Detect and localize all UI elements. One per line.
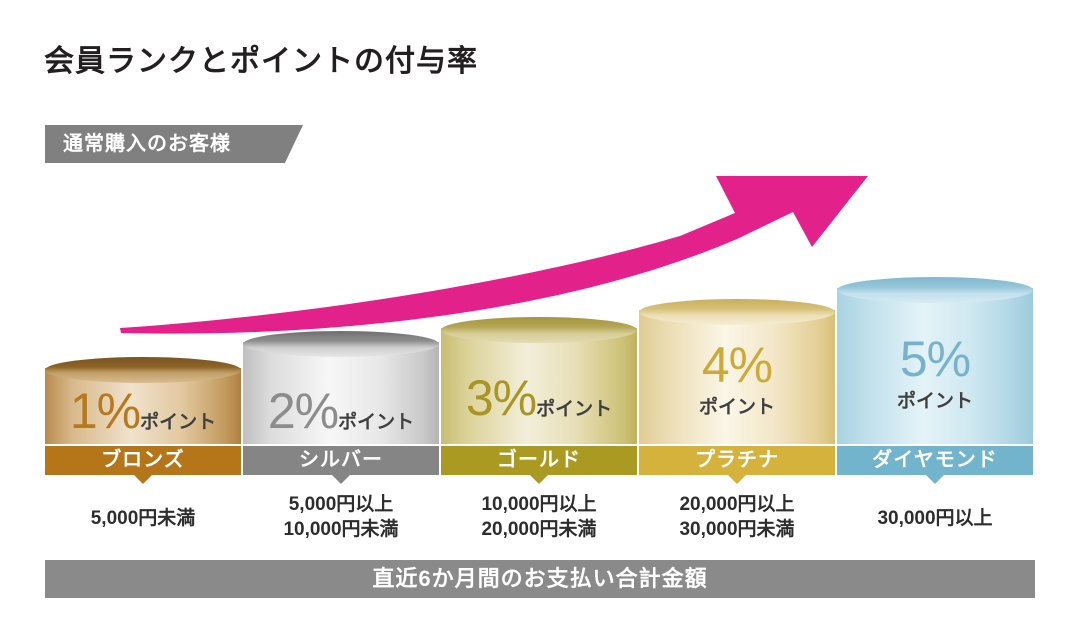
range-line-2: 30,000円未満 (632, 517, 842, 542)
percent-unit: ポイント (639, 392, 835, 419)
tier-bar-platinum[interactable]: プラチナ (639, 446, 835, 475)
percent-value: 2% (268, 383, 338, 439)
range-line-1: 30,000円以上 (830, 506, 1040, 531)
tier-pointer-bronze (134, 475, 152, 484)
range-line-1: 5,000円未満 (38, 506, 248, 531)
footer-caption: 直近6か月間のお支払い合計金額 (45, 560, 1035, 598)
tier-pointer-silver (332, 475, 350, 484)
tier-bar-diamond[interactable]: ダイヤモンド (837, 446, 1033, 475)
range-line-2: 10,000円未満 (236, 517, 446, 542)
tier-bar-silver[interactable]: シルバー (243, 446, 439, 475)
percent-unit: ポイント (837, 386, 1033, 413)
range-line-1: 10,000円以上 (434, 492, 644, 517)
range-line-1: 5,000円以上 (236, 492, 446, 517)
percent-unit: ポイント (338, 412, 414, 433)
infographic-canvas: 会員ランクとポイントの付与率 通常購入のお客様 1%ポイント ブロンズ 5,00… (0, 0, 1080, 636)
percent-unit: ポイント (536, 399, 612, 420)
range-caption-platinum: 20,000円以上 30,000円未満 (632, 492, 842, 542)
tier-pointer-gold (530, 475, 548, 484)
percent-label-platinum: 4% ポイント (639, 336, 835, 419)
range-caption-bronze: 5,000円未満 (38, 506, 248, 531)
percent-unit: ポイント (140, 412, 216, 433)
customer-type-badge: 通常購入のお客様 (45, 125, 303, 163)
percent-label-silver: 2%ポイント (243, 382, 439, 440)
tier-pointer-platinum (728, 475, 746, 484)
page-title: 会員ランクとポイントの付与率 (44, 36, 478, 80)
percent-value: 1% (70, 383, 140, 439)
range-caption-diamond: 30,000円以上 (830, 506, 1040, 531)
tier-bar-bronze[interactable]: ブロンズ (45, 446, 241, 475)
tier-bar-gold[interactable]: ゴールド (441, 446, 637, 475)
tier-pointer-diamond (926, 475, 944, 484)
range-line-1: 20,000円以上 (632, 492, 842, 517)
range-caption-silver: 5,000円以上 10,000円未満 (236, 492, 446, 542)
percent-value: 4% (702, 337, 772, 393)
range-line-2: 20,000円未満 (434, 517, 644, 542)
percent-value: 3% (466, 370, 536, 426)
percent-label-diamond: 5% ポイント (837, 330, 1033, 413)
percent-value: 5% (900, 331, 970, 387)
percent-label-bronze: 1%ポイント (45, 382, 241, 440)
range-caption-gold: 10,000円以上 20,000円未満 (434, 492, 644, 542)
percent-label-gold: 3%ポイント (441, 369, 637, 427)
